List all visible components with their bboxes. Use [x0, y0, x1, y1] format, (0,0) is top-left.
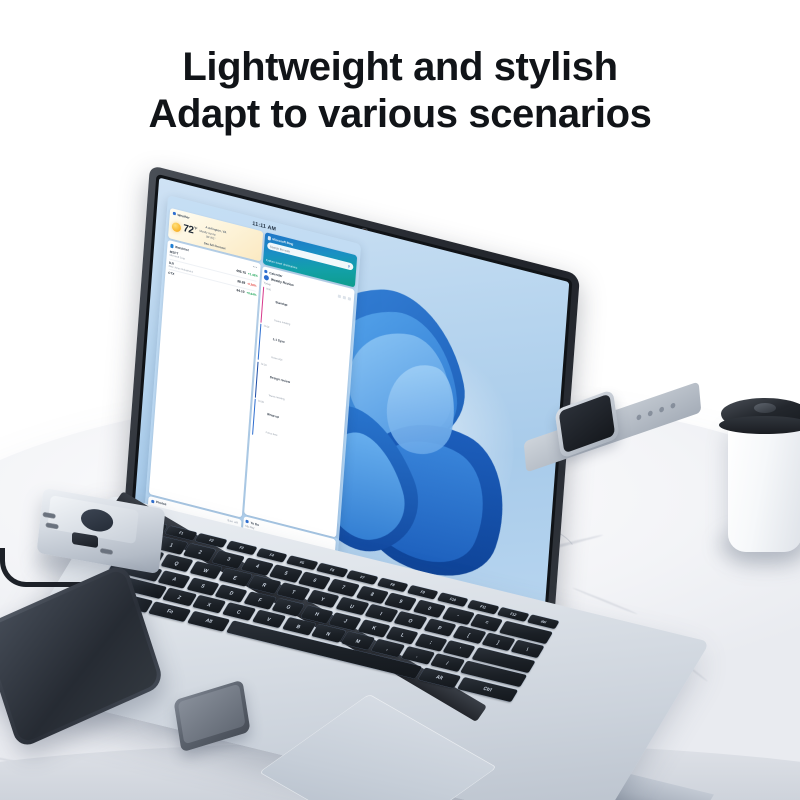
cup-lid-tab [754, 403, 776, 413]
cup-lid-rim [719, 416, 800, 434]
price: 64.10 [236, 288, 244, 294]
change: -0.28% [247, 282, 256, 288]
search-placeholder: Search the web [270, 244, 290, 253]
calendar-icon [264, 270, 268, 274]
search-icon[interactable]: ⚲ [348, 264, 351, 269]
avatar [264, 275, 269, 281]
hub-port[interactable] [42, 512, 56, 519]
ticker: CTX [168, 270, 174, 276]
product-marketing-image: 11:11 AM Weather A Arling [0, 0, 800, 800]
watchlist-widget[interactable]: Watchlist ••• MSFT Microsoft Corp 405.75… [149, 240, 260, 517]
page-title: Lightweight and stylish Adapt to various… [0, 44, 800, 138]
price: 38.29 [237, 279, 245, 285]
price: 405.75 [236, 269, 246, 275]
hub-port[interactable] [45, 522, 59, 529]
chart-icon [170, 244, 174, 248]
weather-icon [173, 211, 177, 215]
watchlist-more-icon[interactable]: ••• [253, 265, 258, 270]
sun-icon [171, 221, 181, 232]
laptop: 11:11 AM Weather A Arling [110, 165, 730, 725]
change: +0.64% [246, 290, 255, 296]
usb-cable [0, 548, 85, 587]
headline-line-1: Lightweight and stylish [0, 44, 800, 91]
calendar-actions[interactable] [338, 295, 351, 301]
hub-port[interactable] [100, 548, 114, 555]
headline-line-2: Adapt to various scenarios [0, 91, 800, 138]
coffee-cup [728, 420, 800, 552]
change: +1.42% [248, 272, 257, 278]
bing-icon [267, 236, 271, 240]
